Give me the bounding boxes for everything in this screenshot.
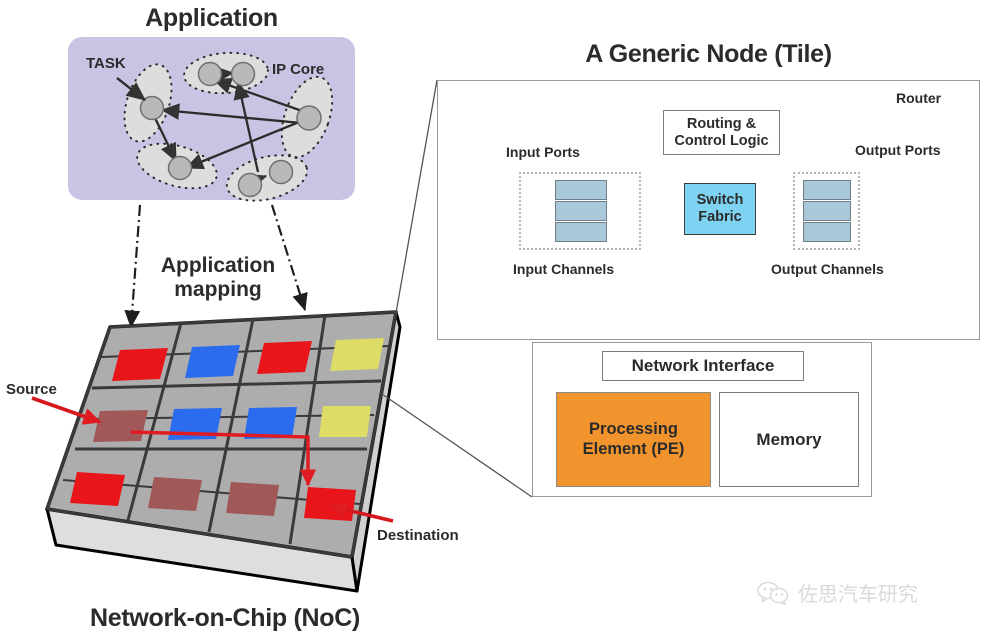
routing-logic-line1: Routing & [687,116,756,132]
task-node [169,157,192,180]
source-label: Source [6,382,57,399]
mesh-tile [70,472,125,506]
output-fifo-buffer [803,180,851,242]
task-node [297,106,321,130]
network-interface-title-box: Network Interface [602,351,804,381]
mesh-tile [330,338,384,371]
application-mapping-label-line2: mapping [133,278,303,302]
input-channels-label: Input Channels [513,262,614,278]
fifo-slot [555,180,607,200]
callout-leader [382,394,532,497]
destination-label: Destination [377,528,459,545]
mesh-tile [148,477,202,511]
pe-line2: Element (PE) [583,440,685,458]
pe-line1: Processing [589,420,678,438]
noc-title: Network-on-Chip (NoC) [40,604,410,632]
mesh-tile [93,410,148,442]
switch-fabric-box[interactable]: Switch Fabric [684,183,756,235]
mesh-tile [257,341,312,374]
network-interface-title: Network Interface [632,356,775,376]
fifo-slot [555,201,607,221]
diagram-canvas: Application [0,0,983,637]
task-node [232,63,255,86]
mesh-tile [185,345,240,378]
mesh-tile [226,482,279,516]
mesh-tile [112,348,168,381]
router-label: Router [896,91,941,107]
switch-fabric-line1: Switch [697,192,744,208]
memory-label: Memory [756,430,821,450]
input-fifo-buffer [555,180,607,242]
output-channels-label: Output Channels [771,262,884,278]
memory-box[interactable]: Memory [719,392,859,487]
mesh-tile [319,406,371,437]
watermark: 佐思汽车研究 [757,578,918,607]
watermark-text: 佐思汽车研究 [798,578,918,607]
task-node [199,63,222,86]
output-ports-label: Output Ports [855,143,941,159]
mesh-tile [304,487,356,521]
fifo-slot [803,222,851,242]
application-mapping-label-line1: Application [133,254,303,278]
fifo-slot [555,222,607,242]
routing-control-logic-box[interactable]: Routing & Control Logic [663,110,780,155]
callout-leader [396,80,437,313]
fifo-slot [803,180,851,200]
task-label: TASK [86,56,126,73]
task-edge [214,80,305,112]
chat-bubble-icon [757,581,791,605]
generic-node-title: A Generic Node (Tile) [437,40,980,68]
ip-core-label: IP Core [272,62,324,79]
routing-logic-line2: Control Logic [674,133,768,149]
noc-chip [47,312,400,591]
switch-fabric-line2: Fabric [698,209,742,225]
fifo-slot [803,201,851,221]
task-node [239,174,262,197]
input-ports-label: Input Ports [506,145,580,161]
task-node [270,161,293,184]
processing-element-box[interactable]: Processing Element (PE) [556,392,711,487]
